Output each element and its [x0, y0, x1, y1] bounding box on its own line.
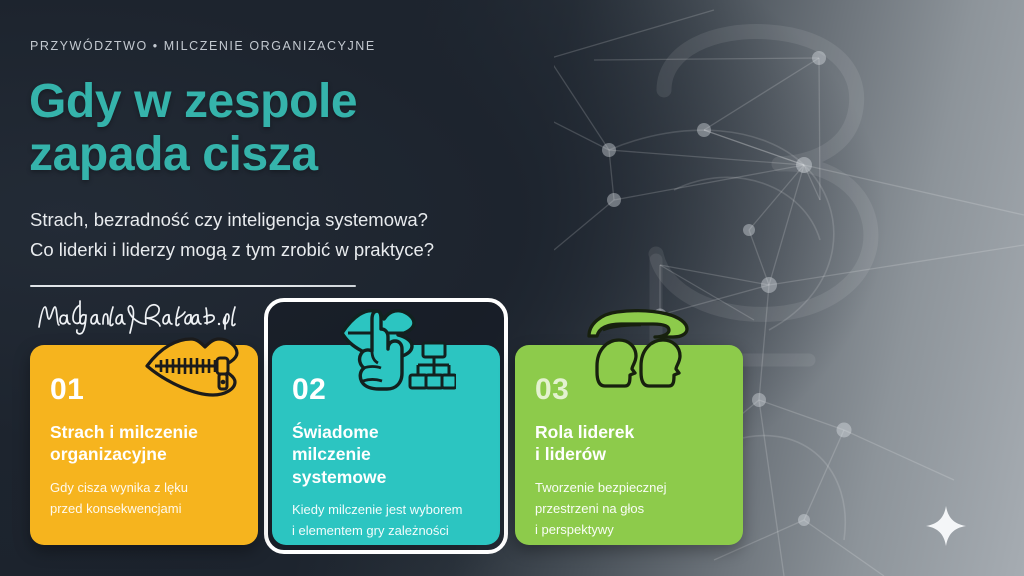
card-title: Rola liderek i liderów	[535, 421, 725, 466]
card-title: Świadome milczenie systemowe	[292, 421, 482, 488]
card-title: Strach i milczenie organizacyjne	[50, 421, 240, 466]
card-description: Gdy cisza wynika z lęku przed konsekwenc…	[50, 477, 240, 520]
zipped-lips-icon	[139, 335, 243, 399]
card-description: Kiedy milczenie jest wyborem i elementem…	[292, 499, 482, 542]
shush-finger-org-chart-icon	[330, 305, 456, 405]
card-description: Tworzenie bezpiecznej przestrzeni na gło…	[535, 477, 725, 541]
topic-cards: 01 Strach i milczenie organizacyjne Gdy …	[0, 0, 1024, 576]
presentation-slide: PRZYWÓDZTWO • MILCZENIE ORGANIZACYJNE Gd…	[0, 0, 1024, 576]
hand-over-two-heads-icon	[583, 306, 695, 394]
